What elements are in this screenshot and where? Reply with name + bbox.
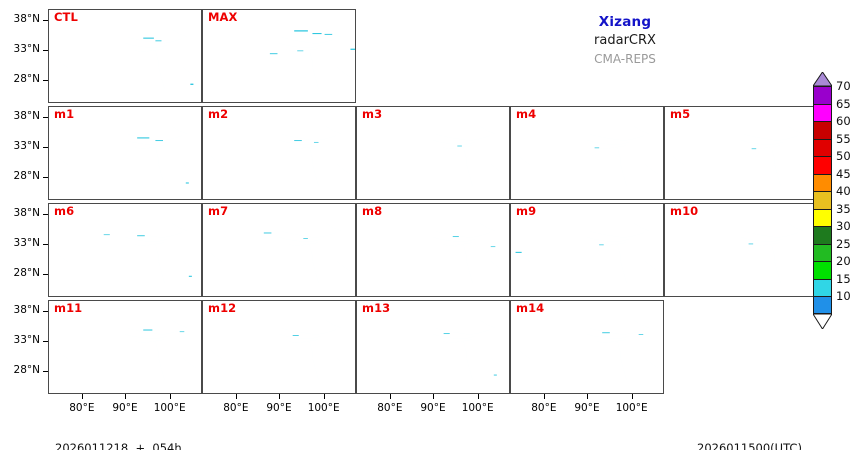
river-line <box>433 334 476 339</box>
boundary-line <box>317 248 335 292</box>
boundary-line <box>249 177 278 193</box>
river-line <box>633 222 651 231</box>
river-line <box>517 252 531 262</box>
radar-echo <box>190 84 193 85</box>
river-line <box>645 261 659 271</box>
river-line <box>337 358 351 368</box>
boundary-line <box>161 68 197 80</box>
radar-echo <box>104 234 110 235</box>
figure-root: Xizang radarCRX CMA-REPS CTLMAXm1m2m3m4m… <box>0 0 860 450</box>
boundary-line <box>513 226 625 280</box>
boundary-line <box>125 280 160 293</box>
colorbar-tick-35: 35 <box>836 203 851 215</box>
radar-echo <box>293 335 299 336</box>
x-tick-label: 90°E <box>409 403 457 414</box>
river-line <box>183 67 197 77</box>
boundary-line <box>741 183 776 196</box>
river-line <box>325 222 343 231</box>
river-line <box>587 334 630 339</box>
boundary-line <box>315 165 351 177</box>
river-line <box>617 244 626 283</box>
radar-echo <box>143 330 152 331</box>
colorbar-band <box>813 174 832 192</box>
boundary-line <box>582 310 649 346</box>
boundary-line <box>403 177 432 193</box>
boundary-line <box>315 262 351 274</box>
river-line <box>183 261 197 271</box>
x-tick-label: 80°E <box>520 403 568 414</box>
map-panel-m5[interactable]: m5 <box>664 106 818 200</box>
colorbar <box>813 72 832 329</box>
y-tick-mark <box>43 274 48 275</box>
y-tick-label: 33°N <box>14 141 40 152</box>
colorbar-tick-30: 30 <box>836 220 851 232</box>
colorbar-band <box>813 121 832 139</box>
boundary-line <box>623 165 659 177</box>
x-tick-mark <box>82 394 83 399</box>
river-line <box>491 164 505 174</box>
y-tick-mark <box>43 244 48 245</box>
boundary-line <box>557 371 586 387</box>
radar-echo <box>297 50 303 51</box>
map-panel-m9[interactable]: m9 <box>510 203 664 297</box>
boundary-line <box>51 323 163 377</box>
river-line <box>309 341 318 380</box>
map-panel-m12[interactable]: m12 <box>202 300 356 394</box>
river-line <box>282 232 337 238</box>
river-line <box>183 164 197 174</box>
boundary-line <box>120 213 187 249</box>
boundary-line <box>359 129 471 183</box>
river-line <box>325 28 343 37</box>
colorbar-tick-45: 45 <box>836 168 851 180</box>
panel-label-m2: m2 <box>208 108 228 121</box>
river-line <box>55 349 69 359</box>
river-line <box>787 125 805 134</box>
radar-echo <box>602 332 610 333</box>
colorbar-tick-60: 60 <box>836 115 851 127</box>
panel-label-m8: m8 <box>362 205 382 218</box>
x-tick-label: 80°E <box>366 403 414 414</box>
colorbar-band <box>813 104 832 122</box>
boundary-line <box>433 280 468 293</box>
y-tick-label: 28°N <box>14 365 40 376</box>
boundary-line <box>274 310 341 346</box>
boundary-line <box>582 116 649 152</box>
boundary-line <box>279 280 314 293</box>
panel-label-m5: m5 <box>670 108 690 121</box>
boundary-line <box>796 158 814 165</box>
boundary-line <box>642 158 660 165</box>
boundary-line <box>125 86 160 99</box>
x-tick-label: 100°E <box>454 403 502 414</box>
colorbar-band <box>813 139 832 157</box>
river-line <box>750 243 780 246</box>
river-line <box>799 164 813 174</box>
radar-echo <box>491 246 496 247</box>
radar-echo <box>294 30 308 31</box>
river-line <box>596 146 626 149</box>
radar-echo <box>314 142 319 143</box>
x-tick-label: 100°E <box>608 403 656 414</box>
boundary-line <box>582 213 649 249</box>
x-tick-label: 90°E <box>563 403 611 414</box>
y-tick-mark <box>43 20 48 21</box>
river-line <box>279 334 322 339</box>
radar-echo <box>186 182 189 183</box>
radar-echo <box>453 236 459 237</box>
radar-echo <box>137 235 145 236</box>
panel-label-m11: m11 <box>54 302 82 315</box>
boundary-line <box>249 371 278 387</box>
panel-label-m12: m12 <box>208 302 236 315</box>
river-line <box>325 319 343 328</box>
river-line <box>671 155 685 165</box>
river-line <box>517 349 531 359</box>
river-line <box>325 125 343 134</box>
boundary-line <box>95 177 124 193</box>
river-line <box>436 232 491 238</box>
x-tick-mark <box>544 394 545 399</box>
river-line <box>209 252 223 262</box>
boundary-line <box>249 80 278 96</box>
boundary-line <box>488 352 506 359</box>
river-line <box>771 244 780 283</box>
y-tick-label: 38°N <box>14 305 40 316</box>
boundary-line <box>471 151 489 195</box>
river-line <box>617 147 626 186</box>
river-line <box>337 67 351 77</box>
radar-echo <box>325 34 333 35</box>
panel-label-ctl: CTL <box>54 11 78 24</box>
x-tick-mark <box>632 394 633 399</box>
boundary-line <box>557 177 586 193</box>
map-panel-m7[interactable]: m7 <box>202 203 356 297</box>
boundary-line <box>625 151 643 195</box>
colorbar-tick-40: 40 <box>836 185 851 197</box>
colorbar-tick-70: 70 <box>836 80 851 92</box>
y-tick-mark <box>43 311 48 312</box>
boundary-line <box>557 274 586 290</box>
river-line <box>171 222 189 231</box>
boundary-line <box>513 129 625 183</box>
boundary-line <box>180 255 198 262</box>
boundary-line <box>279 86 314 99</box>
colorbar-band <box>813 279 832 297</box>
colorbar-over-arrow <box>813 72 832 86</box>
boundary-line <box>205 323 317 377</box>
y-tick-mark <box>43 50 48 51</box>
boundary-line <box>163 54 181 98</box>
river-line <box>463 341 472 380</box>
river-line <box>125 43 168 48</box>
boundary-line <box>403 274 432 290</box>
y-tick-mark <box>43 177 48 178</box>
map-panel-m13[interactable]: m13 <box>356 300 510 394</box>
panel-label-m6: m6 <box>54 205 74 218</box>
x-tick-mark <box>324 394 325 399</box>
boundary-line <box>279 183 314 196</box>
x-tick-mark <box>279 394 280 399</box>
boundary-line <box>161 165 197 177</box>
panel-label-m3: m3 <box>362 108 382 121</box>
river-line <box>433 140 476 145</box>
map-panel-m8[interactable]: m8 <box>356 203 510 297</box>
boundary-line <box>205 226 317 280</box>
boundary-line <box>161 262 197 274</box>
boundary-line <box>180 158 198 165</box>
y-tick-label: 38°N <box>14 111 40 122</box>
boundary-line <box>205 129 317 183</box>
colorbar-under-arrow <box>813 314 832 329</box>
river-line <box>134 340 164 343</box>
colorbar-band <box>813 156 832 174</box>
river-line <box>799 261 813 271</box>
map-panel-m1[interactable]: m1 <box>48 106 202 200</box>
river-line <box>128 232 183 238</box>
river-line <box>436 135 491 141</box>
radar-echo <box>189 276 192 277</box>
radar-echo <box>599 244 604 245</box>
river-line <box>288 340 318 343</box>
river-line <box>55 252 69 262</box>
boundary-line <box>469 165 505 177</box>
colorbar-band <box>813 86 832 104</box>
boundary-line <box>736 213 803 249</box>
boundary-line <box>623 359 659 371</box>
boundary-line <box>163 345 181 389</box>
colorbar-tick-65: 65 <box>836 98 851 110</box>
boundary-line <box>779 248 797 292</box>
river-line <box>171 125 189 134</box>
boundary-line <box>779 151 797 195</box>
boundary-line <box>587 377 622 390</box>
y-tick-label: 33°N <box>14 238 40 249</box>
boundary-line <box>625 345 643 389</box>
river-line <box>645 164 659 174</box>
river-line <box>363 252 377 262</box>
river-line <box>479 125 497 134</box>
boundary-line <box>741 280 776 293</box>
boundary-line <box>120 116 187 152</box>
boundary-line <box>777 165 813 177</box>
river-line <box>134 49 164 52</box>
river-line <box>155 244 164 283</box>
river-line <box>590 232 645 238</box>
river-line <box>744 232 799 238</box>
river-line <box>787 222 805 231</box>
panel-label-m14: m14 <box>516 302 544 315</box>
x-tick-mark <box>236 394 237 399</box>
river-line <box>155 147 164 186</box>
boundary-line <box>95 80 124 96</box>
boundary-line <box>51 226 163 280</box>
boundary-line <box>403 371 432 387</box>
map-panel-m11[interactable]: m11 <box>48 300 202 394</box>
river-line <box>433 237 476 242</box>
river-line <box>671 252 685 262</box>
boundary-line <box>736 116 803 152</box>
figure-header: Xizang radarCRX CMA-REPS <box>540 14 710 68</box>
footer-valid-utc: 2026011500(UTC) <box>697 441 802 450</box>
radar-echo <box>444 333 450 334</box>
panel-label-m9: m9 <box>516 205 536 218</box>
y-tick-label: 33°N <box>14 44 40 55</box>
footer-init-line-1: 2026011218 + 054h <box>55 441 182 450</box>
river-line <box>125 334 168 339</box>
y-tick-label: 28°N <box>14 74 40 85</box>
river-line <box>183 358 197 368</box>
header-region: Xizang <box>540 14 710 31</box>
radar-echo <box>639 334 644 335</box>
river-line <box>128 135 183 141</box>
x-tick-mark <box>478 394 479 399</box>
boundary-line <box>623 262 659 274</box>
header-model: CMA-REPS <box>540 50 710 68</box>
boundary-line <box>334 352 352 359</box>
river-line <box>209 155 223 165</box>
y-tick-label: 28°N <box>14 171 40 182</box>
map-panel-m3[interactable]: m3 <box>356 106 510 200</box>
river-line <box>363 155 377 165</box>
boundary-line <box>180 352 198 359</box>
x-tick-mark <box>433 394 434 399</box>
river-line <box>55 155 69 165</box>
boundary-line <box>469 359 505 371</box>
radar-echo <box>303 238 308 239</box>
river-line <box>596 340 626 343</box>
river-line <box>282 38 337 44</box>
boundary-line <box>51 129 163 183</box>
radar-echo <box>312 33 321 34</box>
colorbar-band <box>813 244 832 262</box>
boundary-line <box>488 158 506 165</box>
radar-echo <box>137 137 149 138</box>
boundary-line <box>274 116 341 152</box>
boundary-line <box>334 255 352 262</box>
boundary-line <box>317 151 335 195</box>
river-line <box>209 58 223 68</box>
river-line <box>128 329 183 335</box>
river-line <box>171 319 189 328</box>
river-line <box>309 147 318 186</box>
y-tick-label: 38°N <box>14 208 40 219</box>
panel-label-m1: m1 <box>54 108 74 121</box>
map-panel-ctl[interactable]: CTL <box>48 9 202 103</box>
river-line <box>645 358 659 368</box>
boundary-line <box>433 183 468 196</box>
river-line <box>744 135 799 141</box>
map-panel-m2[interactable]: m2 <box>202 106 356 200</box>
boundary-line <box>796 255 814 262</box>
boundary-line <box>315 359 351 371</box>
river-line <box>590 135 645 141</box>
river-line <box>741 237 784 242</box>
map-panel-m4[interactable]: m4 <box>510 106 664 200</box>
radar-echo <box>294 140 302 141</box>
boundary-line <box>95 371 124 387</box>
river-line <box>337 164 351 174</box>
colorbar-tick-50: 50 <box>836 150 851 162</box>
x-tick-mark <box>390 394 391 399</box>
boundary-line <box>469 262 505 274</box>
river-line <box>633 319 651 328</box>
map-panel-max[interactable]: MAX <box>202 9 356 103</box>
river-line <box>288 146 318 149</box>
map-panel-m6[interactable]: m6 <box>48 203 202 297</box>
panel-label-m7: m7 <box>208 205 228 218</box>
boundary-line <box>334 158 352 165</box>
y-tick-mark <box>43 80 48 81</box>
river-line <box>463 244 472 283</box>
colorbar-band <box>813 226 832 244</box>
river-line <box>463 147 472 186</box>
river-line <box>442 243 472 246</box>
river-line <box>288 243 318 246</box>
river-line <box>279 43 322 48</box>
x-tick-label: 80°E <box>212 403 260 414</box>
panel-label-max: MAX <box>208 11 238 24</box>
river-line <box>155 50 164 89</box>
boundary-line <box>125 183 160 196</box>
river-line <box>750 146 780 149</box>
boundary-line <box>274 213 341 249</box>
river-line <box>363 349 377 359</box>
radar-echo <box>494 375 497 376</box>
y-tick-mark <box>43 371 48 372</box>
river-line <box>282 135 337 141</box>
colorbar-tick-25: 25 <box>836 238 851 250</box>
y-tick-mark <box>43 117 48 118</box>
river-line <box>442 340 472 343</box>
boundary-line <box>471 345 489 389</box>
river-line <box>479 222 497 231</box>
river-line <box>587 237 630 242</box>
panel-label-m4: m4 <box>516 108 536 121</box>
boundary-line <box>163 151 181 195</box>
boundary-line <box>249 274 278 290</box>
boundary-line <box>51 32 163 86</box>
river-line <box>517 155 531 165</box>
boundary-line <box>471 248 489 292</box>
boundary-line <box>513 323 625 377</box>
boundary-line <box>125 377 160 390</box>
boundary-line <box>642 352 660 359</box>
boundary-line <box>317 345 335 389</box>
map-panel-m14[interactable]: m14 <box>510 300 664 394</box>
y-tick-label: 33°N <box>14 335 40 346</box>
boundary-line <box>428 310 495 346</box>
boundary-line <box>95 274 124 290</box>
river-line <box>479 319 497 328</box>
boundary-line <box>587 183 622 196</box>
y-tick-mark <box>43 341 48 342</box>
river-line <box>771 147 780 186</box>
river-line <box>171 28 189 37</box>
river-line <box>134 146 164 149</box>
map-panel-m10[interactable]: m10 <box>664 203 818 297</box>
radar-echo <box>595 147 600 148</box>
y-tick-mark <box>43 147 48 148</box>
colorbar-tick-10: 10 <box>836 290 851 302</box>
radar-echo <box>516 252 522 253</box>
boundary-line <box>334 61 352 68</box>
x-tick-mark <box>587 394 588 399</box>
boundary-line <box>711 274 740 290</box>
radar-echo <box>749 244 754 245</box>
river-line <box>155 341 164 380</box>
boundary-line <box>359 323 471 377</box>
